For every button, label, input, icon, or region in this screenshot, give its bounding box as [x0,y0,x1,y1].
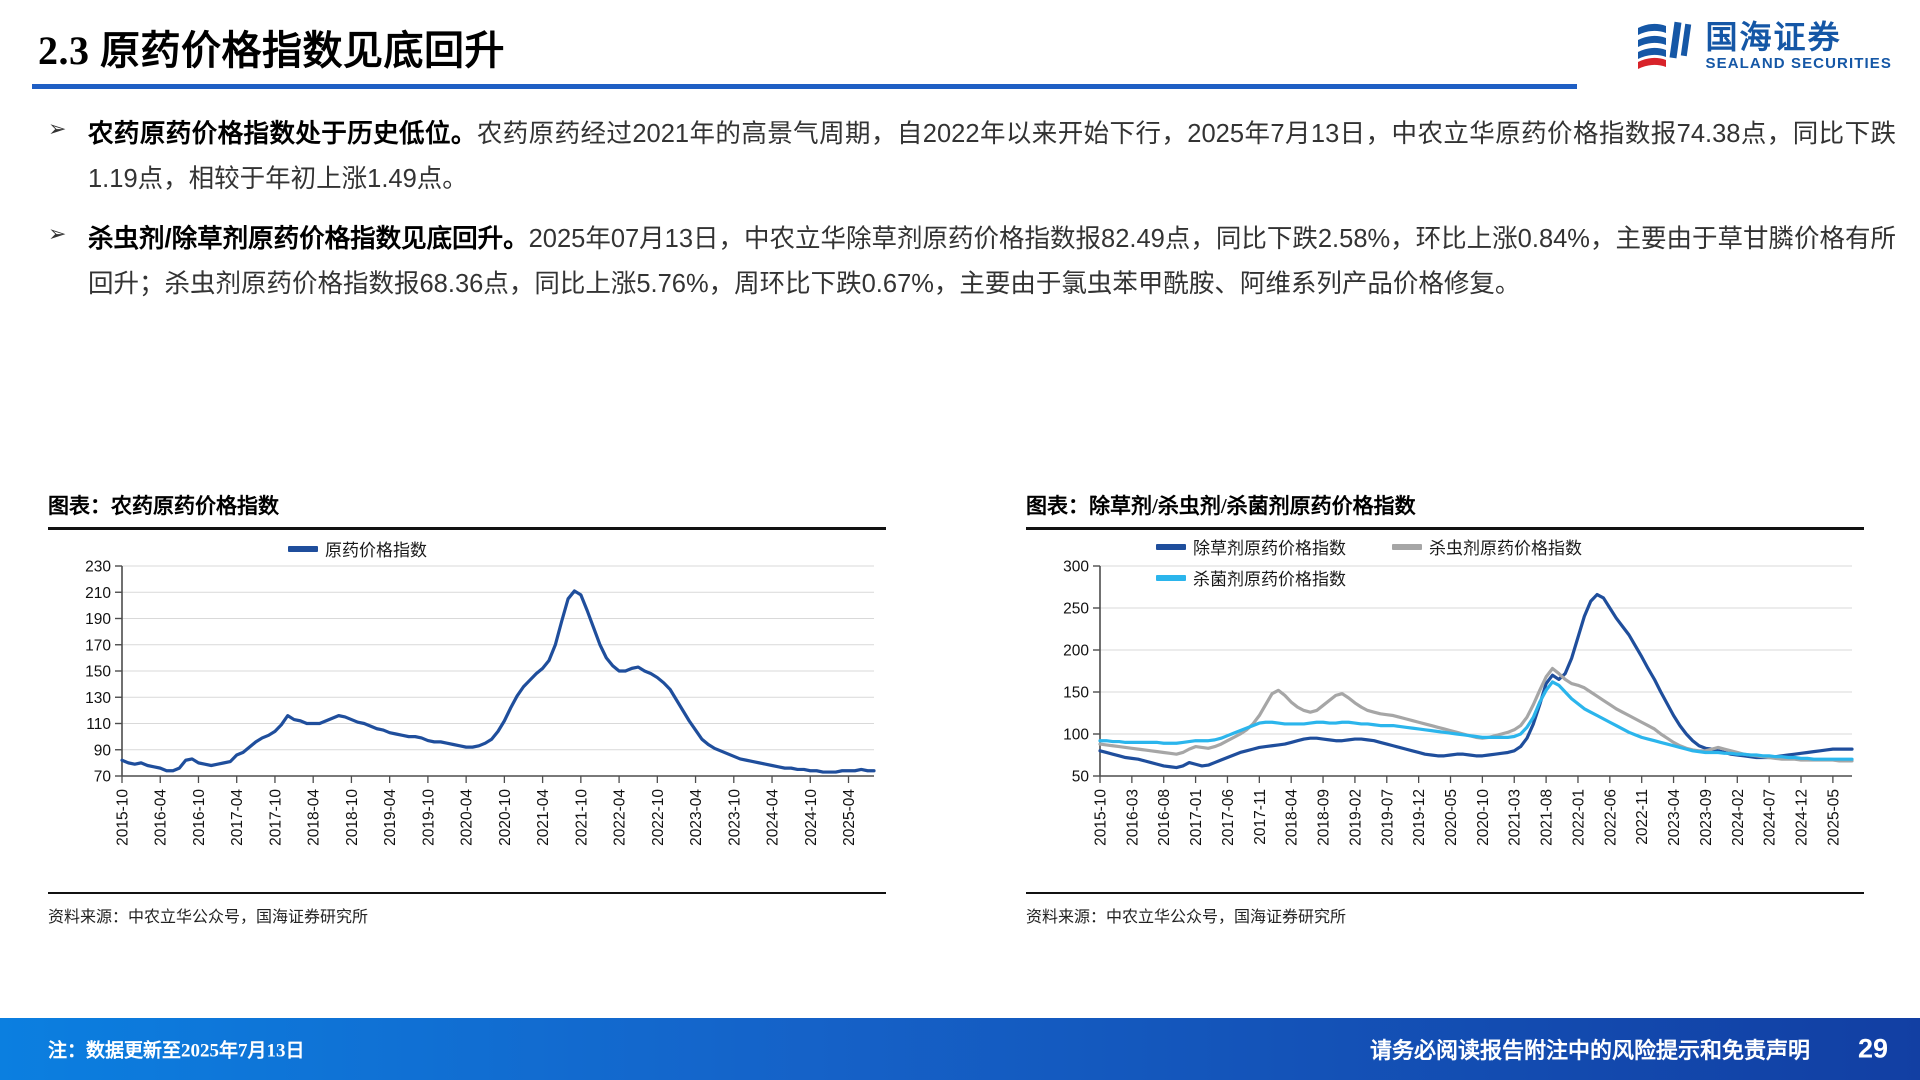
svg-text:70: 70 [94,769,112,786]
svg-text:2017-10: 2017-10 [267,789,284,846]
svg-text:150: 150 [1063,685,1089,702]
svg-text:300: 300 [1063,559,1089,576]
svg-text:2023-09: 2023-09 [1698,789,1715,846]
svg-text:2016-08: 2016-08 [1156,789,1173,846]
svg-text:2019-02: 2019-02 [1347,789,1364,846]
svg-text:2022-10: 2022-10 [650,789,667,846]
svg-text:2023-04: 2023-04 [1666,789,1683,846]
legend-item: 除草剂原药价格指数 [1156,534,1346,559]
svg-text:2020-04: 2020-04 [459,789,476,846]
chart-left-legend: 原药价格指数 [288,536,427,561]
svg-text:2020-10: 2020-10 [497,789,514,846]
svg-text:2017-01: 2017-01 [1188,789,1205,846]
bullet-lead: 杀虫剂/除草剂原药价格指数见底回升。 [88,225,529,253]
chart-panel-right: 图表：除草剂/杀虫剂/杀菌剂原药价格指数 除草剂原药价格指数杀虫剂原药价格指数杀… [1026,490,1864,940]
legend-label: 原药价格指数 [325,536,427,561]
svg-text:2015-10: 2015-10 [1093,789,1110,846]
svg-text:2025-05: 2025-05 [1825,789,1842,846]
svg-text:100: 100 [1063,727,1089,744]
bullet-text: 杀虫剂/除草剂原药价格指数见底回升。2025年07月13日，中农立华除草剂原药价… [88,217,1896,308]
svg-text:210: 210 [85,585,111,602]
chart-left-source: 资料来源：中农立华公众号，国海证券研究所 [48,894,886,927]
svg-text:2022-11: 2022-11 [1634,789,1651,845]
chart-left-heading: 图表：农药原药价格指数 [48,490,886,527]
page-title: 2.3 原药价格指数见底回升 [38,18,505,76]
legend-swatch [1392,544,1422,550]
svg-text:2024-07: 2024-07 [1762,789,1779,846]
chart-right-heading: 图表：除草剂/杀虫剂/杀菌剂原药价格指数 [1026,490,1864,527]
svg-text:2023-10: 2023-10 [726,789,743,846]
sealand-logo-icon [1634,18,1696,76]
legend-label: 杀菌剂原药价格指数 [1193,565,1346,590]
legend-swatch [288,546,318,552]
legend-label: 杀虫剂原药价格指数 [1429,534,1582,559]
svg-text:2021-08: 2021-08 [1539,789,1556,846]
svg-text:2020-05: 2020-05 [1443,789,1460,846]
legend-swatch [1156,575,1186,581]
svg-text:2018-09: 2018-09 [1316,789,1333,846]
slide-header: 2.3 原药价格指数见底回升 国海证券 SEALAND SECURITIES [0,0,1920,98]
svg-text:2022-06: 2022-06 [1602,789,1619,846]
svg-text:2017-06: 2017-06 [1220,789,1237,846]
footer-note: 注：数据更新至2025年7月13日 [48,1036,305,1063]
svg-text:2024-10: 2024-10 [803,789,820,846]
svg-text:2022-04: 2022-04 [612,789,629,846]
legend-item: 杀虫剂原药价格指数 [1392,534,1582,559]
svg-text:110: 110 [86,716,111,733]
logo-name-en: SEALAND SECURITIES [1706,55,1893,73]
svg-text:2021-03: 2021-03 [1507,789,1524,846]
chart-panel-left: 图表：农药原药价格指数 原药价格指数 709011013015017019021… [48,490,886,940]
chart-right-source: 资料来源：中农立华公众号，国海证券研究所 [1026,894,1864,927]
footer-bar: 注：数据更新至2025年7月13日 请务必阅读报告附注中的风险提示和免责声明 2… [0,1018,1920,1080]
chart-left-plot: 原药价格指数 70901101301501701902102302015-102… [48,530,886,888]
svg-text:2023-04: 2023-04 [688,789,705,846]
legend-item: 原药价格指数 [288,536,427,561]
bullet-arrow-icon: ➢ [48,118,66,140]
bullet-text: 农药原药价格指数处于历史低位。农药原药经过2021年的高景气周期，自2022年以… [88,112,1896,203]
svg-text:2017-04: 2017-04 [229,789,246,846]
bullet-lead: 农药原药价格指数处于历史低位。 [88,120,477,148]
svg-text:2019-10: 2019-10 [420,789,437,846]
svg-text:2019-07: 2019-07 [1379,789,1396,846]
bullet-arrow-icon: ➢ [48,223,66,245]
page-number: 29 [1858,1034,1888,1065]
svg-text:190: 190 [85,611,111,628]
svg-text:2015-10: 2015-10 [115,789,132,846]
legend-label: 除草剂原药价格指数 [1193,534,1346,559]
svg-text:2016-03: 2016-03 [1124,789,1141,846]
svg-text:2017-11: 2017-11 [1252,789,1269,845]
svg-text:2020-10: 2020-10 [1475,789,1492,846]
svg-text:230: 230 [85,559,111,576]
legend-swatch [1156,544,1186,550]
company-logo: 国海证券 SEALAND SECURITIES [1634,18,1893,76]
svg-text:2024-02: 2024-02 [1730,789,1747,846]
svg-text:2018-04: 2018-04 [306,789,323,846]
svg-text:2019-12: 2019-12 [1411,789,1428,846]
bullet-item: ➢ 农药原药价格指数处于历史低位。农药原药经过2021年的高景气周期，自2022… [40,112,1896,203]
legend-item: 杀菌剂原药价格指数 [1156,565,1346,590]
svg-text:90: 90 [94,742,112,759]
chart-right-legend: 除草剂原药价格指数杀虫剂原药价格指数杀菌剂原药价格指数 [1156,534,1776,590]
svg-text:200: 200 [1063,643,1089,660]
logo-text: 国海证券 SEALAND SECURITIES [1706,21,1893,73]
svg-text:2019-04: 2019-04 [382,789,399,846]
svg-text:170: 170 [85,637,111,654]
svg-text:2016-10: 2016-10 [191,789,208,846]
header-divider [32,84,1577,89]
svg-text:2024-04: 2024-04 [765,789,782,846]
slide: 2.3 原药价格指数见底回升 国海证券 SEALAND SECURITIES [0,0,1920,1080]
svg-text:2021-10: 2021-10 [573,789,590,846]
svg-text:2016-04: 2016-04 [153,789,170,846]
svg-text:2022-01: 2022-01 [1570,789,1587,846]
svg-text:130: 130 [85,690,111,707]
svg-text:2024-12: 2024-12 [1794,789,1811,846]
chart-right-plot: 除草剂原药价格指数杀虫剂原药价格指数杀菌剂原药价格指数 501001502002… [1026,530,1864,888]
logo-name-cn: 国海证券 [1706,21,1893,55]
bullet-item: ➢ 杀虫剂/除草剂原药价格指数见底回升。2025年07月13日，中农立华除草剂原… [40,217,1896,308]
svg-text:250: 250 [1063,601,1089,618]
svg-text:50: 50 [1072,769,1090,786]
svg-text:2021-04: 2021-04 [535,789,552,846]
content-bullets: ➢ 农药原药价格指数处于历史低位。农药原药经过2021年的高景气周期，自2022… [40,112,1896,322]
svg-text:150: 150 [85,664,111,681]
svg-text:2018-10: 2018-10 [344,789,361,846]
svg-text:2025-04: 2025-04 [841,789,858,846]
chart-left-svg: 70901101301501701902102302015-102016-042… [48,530,886,888]
svg-text:2018-04: 2018-04 [1284,789,1301,846]
footer-disclaimer: 请务必阅读报告附注中的风险提示和免责声明 [1370,1033,1810,1065]
